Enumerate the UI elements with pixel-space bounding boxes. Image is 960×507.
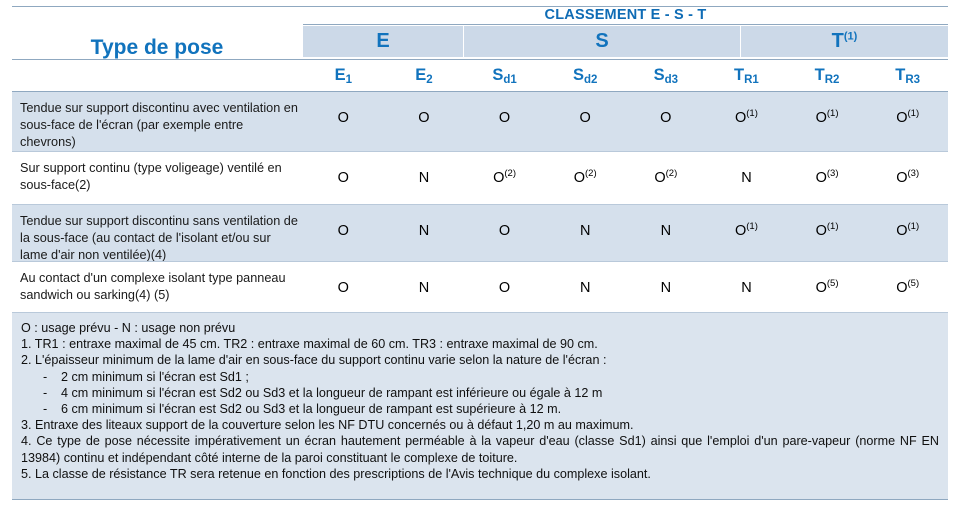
data-cell: O(2) (626, 170, 707, 186)
note-2c-dash: - (43, 401, 47, 417)
column-header-base: S (492, 66, 503, 84)
group-label-t: T(1) (741, 26, 948, 57)
column-header-sd1: Sd1 (464, 62, 545, 89)
data-cell-value: O (499, 223, 510, 239)
data-cell-value: N (580, 223, 590, 239)
column-header-sub: R2 (825, 74, 840, 86)
column-header-sub: d3 (665, 74, 678, 86)
data-cell-footnote-ref: (3) (827, 168, 839, 179)
data-cell: O(1) (787, 110, 868, 126)
data-cell-value: O (418, 110, 429, 126)
data-cell: O (303, 170, 384, 186)
column-header-tR2: TR2 (787, 62, 868, 89)
data-cell-footnote-ref: (2) (504, 168, 516, 179)
data-cell-value: N (661, 280, 671, 296)
note-3: 3. Entraxe des liteaux support de la cou… (21, 417, 939, 433)
data-cell-value: O (816, 170, 827, 186)
data-cell-value: O (499, 110, 510, 126)
note-2a-dash: - (43, 369, 47, 385)
data-cell-footnote-ref: (2) (585, 168, 597, 179)
data-cell: N (545, 223, 626, 239)
column-header-tR1: TR1 (706, 62, 787, 89)
data-cell-value: O (654, 170, 665, 186)
column-header-base: E (415, 66, 426, 84)
data-cell: N (384, 280, 465, 296)
data-cell: O(2) (464, 170, 545, 186)
data-cell-value: O (896, 110, 907, 126)
data-cell-footnote-ref: (2) (666, 168, 678, 179)
data-cell-value: O (816, 223, 827, 239)
note-1: 1. TR1 : entraxe maximal de 45 cm. TR2 :… (21, 336, 939, 352)
group-label-e: E (303, 26, 463, 57)
data-cell: N (706, 170, 787, 186)
data-cell-value: N (741, 280, 751, 296)
data-cell: O (303, 223, 384, 239)
data-cell: O(1) (867, 110, 948, 126)
data-cell-value: O (493, 170, 504, 186)
column-header-sub: d1 (503, 74, 516, 86)
note-2b: - 4 cm minimum si l'écran est Sd2 ou Sd3… (21, 385, 939, 401)
column-header-base: S (654, 66, 665, 84)
note-2b-text: 4 cm minimum si l'écran est Sd2 ou Sd3 e… (61, 386, 602, 400)
data-cell-value: O (338, 280, 349, 296)
header-rule (303, 24, 948, 25)
note-5: 5. La classe de résistance TR sera reten… (21, 466, 939, 482)
data-cell: O(3) (787, 170, 868, 186)
note-2c: - 6 cm minimum si l'écran est Sd2 ou Sd3… (21, 401, 939, 417)
column-header-base: T (895, 66, 905, 84)
data-cell-value: O (660, 110, 671, 126)
column-header-sub: R3 (905, 74, 920, 86)
data-cell-value: N (741, 170, 751, 186)
table-row: Sur support continu (type voligeage) ven… (12, 152, 948, 205)
row-label: Tendue sur support discontinu sans venti… (20, 213, 298, 264)
note-4: 4. Ce type de pose nécessite impérativem… (21, 433, 939, 465)
data-cell-value: N (419, 223, 429, 239)
group-label-s: S (464, 26, 740, 57)
group-band-s: S (464, 26, 740, 57)
column-header-base: T (734, 66, 744, 84)
data-cell-footnote-ref: (3) (908, 168, 920, 179)
column-header-sub: 1 (346, 74, 352, 86)
bottom-rule (12, 499, 948, 500)
note-2: 2. L'épaisseur minimum de la lame d'air … (21, 352, 939, 368)
row-label: Au contact d'un complexe isolant type pa… (20, 270, 298, 304)
data-cell: N (706, 280, 787, 296)
data-cell: O(5) (867, 280, 948, 296)
data-cell: O (464, 223, 545, 239)
data-cell: N (626, 223, 707, 239)
table-row: Au contact d'un complexe isolant type pa… (12, 262, 948, 313)
data-cell: O(1) (867, 223, 948, 239)
data-cell-value: O (896, 223, 907, 239)
note-2c-text: 6 cm minimum si l'écran est Sd2 ou Sd3 e… (61, 402, 561, 416)
column-header-sub: R1 (744, 74, 759, 86)
data-cell-value: O (338, 110, 349, 126)
data-cell: O(3) (867, 170, 948, 186)
data-cell-value: N (419, 170, 429, 186)
note-legend: O : usage prévu - N : usage non prévu (21, 320, 939, 336)
column-header-sd2: Sd2 (545, 62, 626, 89)
data-cell-footnote-ref: (1) (827, 108, 839, 119)
data-cell: O (303, 110, 384, 126)
note-2b-dash: - (43, 385, 47, 401)
data-cell-value: O (338, 223, 349, 239)
column-header-base: T (815, 66, 825, 84)
data-cell-footnote-ref: (1) (746, 221, 758, 232)
data-cell: O(5) (787, 280, 868, 296)
data-cell-value: O (816, 110, 827, 126)
data-cell: O (464, 110, 545, 126)
column-header-tR3: TR3 (867, 62, 948, 89)
column-header-base: E (335, 66, 346, 84)
data-cell: O(1) (706, 110, 787, 126)
data-cell-footnote-ref: (1) (908, 108, 920, 119)
data-cell: N (545, 280, 626, 296)
data-cell: N (384, 170, 465, 186)
classement-table-figure: CLASSEMENT E - S - T Type de pose E S T(… (0, 0, 960, 507)
data-cell: O(1) (787, 223, 868, 239)
column-header-base: S (573, 66, 584, 84)
column-header-sub: 2 (426, 74, 432, 86)
data-cell-value: O (896, 280, 907, 296)
data-cell-value: N (419, 280, 429, 296)
data-cell-footnote-ref: (5) (827, 278, 839, 289)
data-cell-value: O (896, 170, 907, 186)
table-row: Tendue sur support discontinu avec venti… (12, 92, 948, 152)
data-cell: N (384, 223, 465, 239)
data-cell-footnote-ref: (1) (908, 221, 920, 232)
data-cell-value: O (574, 170, 585, 186)
classement-title: CLASSEMENT E - S - T (303, 6, 948, 24)
data-cell: O (464, 280, 545, 296)
note-2a: - 2 cm minimum si l'écran est Sd1 ; (21, 369, 939, 385)
column-header-e1: E1 (303, 62, 384, 89)
column-header-sub: d2 (584, 74, 597, 86)
data-cell-value: N (580, 280, 590, 296)
row-label: Sur support continu (type voligeage) ven… (20, 160, 298, 194)
data-cell: O(2) (545, 170, 626, 186)
data-cell: O (303, 280, 384, 296)
data-cell-value: O (816, 280, 827, 296)
data-cell-footnote-ref: (1) (746, 108, 758, 119)
data-cell-value: O (580, 110, 591, 126)
table-row: Tendue sur support discontinu sans venti… (12, 205, 948, 262)
data-cell-value: O (499, 280, 510, 296)
group-band-t: T(1) (741, 26, 948, 57)
note-2a-text: 2 cm minimum si l'écran est Sd1 ; (61, 370, 249, 384)
data-cell: O (384, 110, 465, 126)
data-cell-footnote-ref: (5) (908, 278, 920, 289)
data-cell-footnote-ref: (1) (827, 221, 839, 232)
column-header-sd3: Sd3 (626, 62, 707, 89)
column-header-e2: E2 (384, 62, 465, 89)
group-band-e: E (303, 26, 463, 57)
data-cell-value: N (661, 223, 671, 239)
data-cell: N (626, 280, 707, 296)
row-label: Tendue sur support discontinu avec venti… (20, 100, 298, 151)
data-cell: O (626, 110, 707, 126)
data-cell: O(1) (706, 223, 787, 239)
data-cell-value: O (338, 170, 349, 186)
data-cell: O (545, 110, 626, 126)
footnotes-panel: O : usage prévu - N : usage non prévu 1.… (12, 313, 948, 499)
data-cell-value: O (735, 223, 746, 239)
data-cell-value: O (735, 110, 746, 126)
group-rule (12, 59, 948, 60)
